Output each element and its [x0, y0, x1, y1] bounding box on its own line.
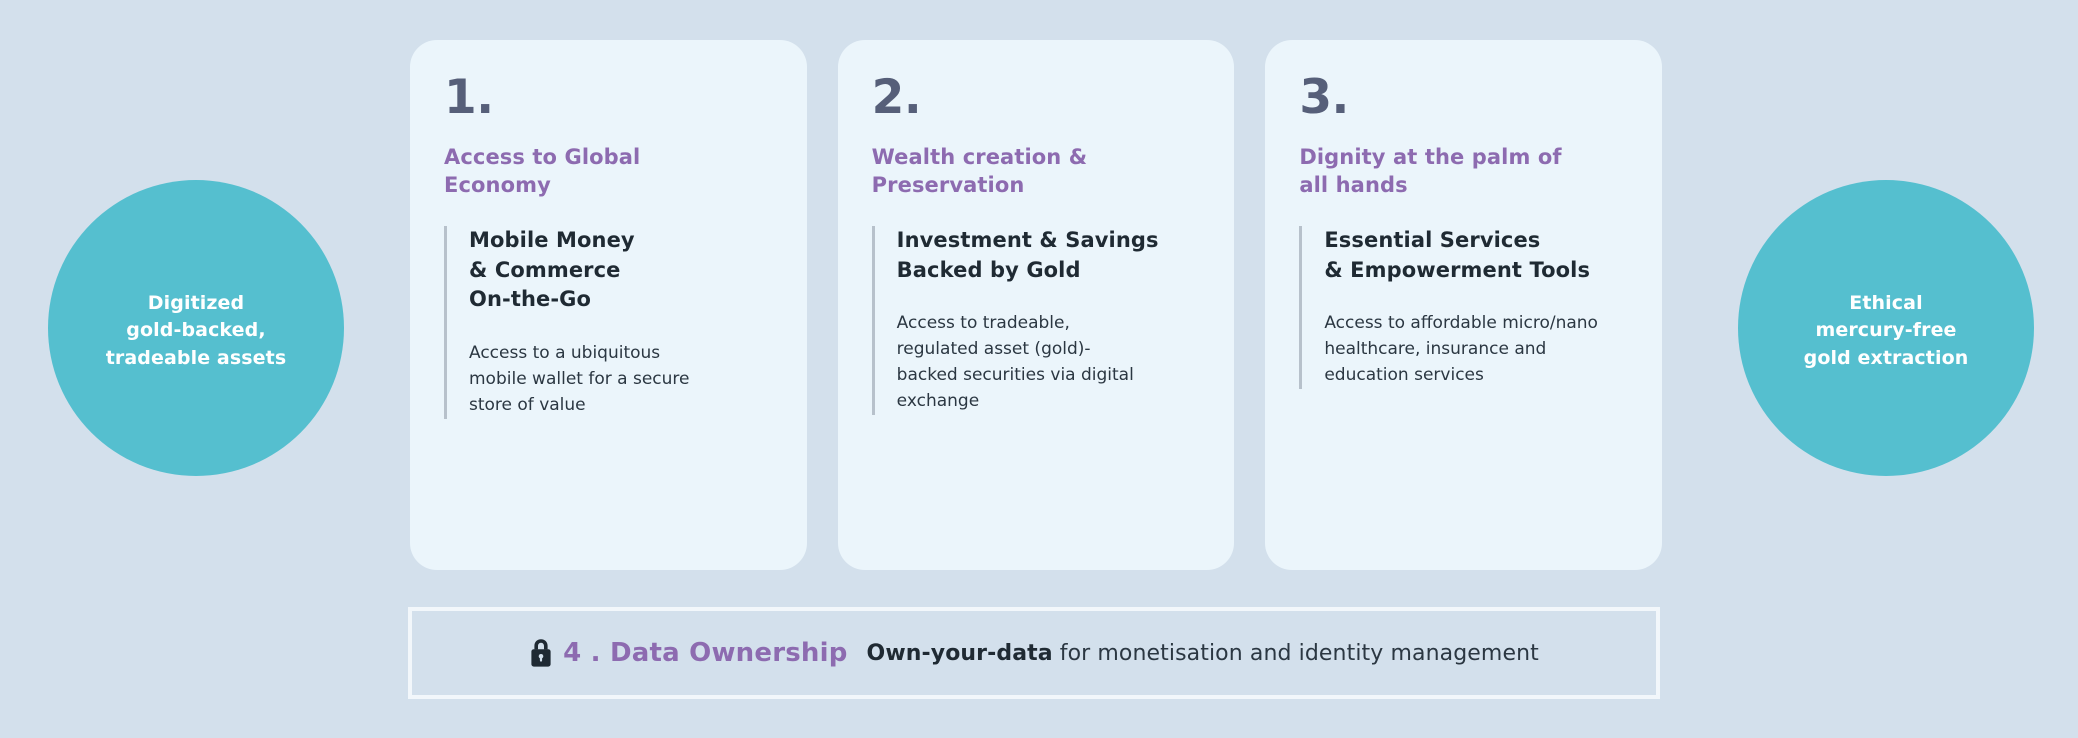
card-3-title: Dignity at the palm of all hands: [1299, 143, 1628, 200]
card-1-number: 1.: [444, 74, 773, 121]
banner-content: 4 . Data Ownership Own-your-data for mon…: [529, 638, 1539, 668]
pillar-cards-row: 1. Access to Global Economy Mobile Money…: [410, 40, 1662, 570]
data-ownership-banner[interactable]: 4 . Data Ownership Own-your-data for mon…: [408, 607, 1660, 699]
pillar-card-2[interactable]: 2. Wealth creation & Preservation Invest…: [838, 40, 1235, 570]
banner-rest-text: for monetisation and identity management: [1060, 641, 1539, 666]
left-circle-label: Digitized gold-backed, tradeable assets: [106, 290, 287, 373]
lock-icon: [529, 638, 553, 668]
card-1-body: Mobile Money & Commerce On-the-Go Access…: [444, 226, 773, 419]
card-2-body: Investment & Savings Backed by Gold Acce…: [872, 226, 1201, 415]
card-2-title: Wealth creation & Preservation: [872, 143, 1201, 200]
card-2-description: Access to tradeable, regulated asset (go…: [897, 311, 1201, 414]
right-circle-label: Ethical mercury-free gold extraction: [1804, 290, 1969, 373]
diagram-canvas: Digitized gold-backed, tradeable assets …: [0, 0, 2078, 738]
card-1-title: Access to Global Economy: [444, 143, 773, 200]
card-1-description: Access to a ubiquitous mobile wallet for…: [469, 341, 773, 418]
card-3-subtitle: Essential Services & Empowerment Tools: [1324, 226, 1628, 286]
pillar-card-3[interactable]: 3. Dignity at the palm of all hands Esse…: [1265, 40, 1662, 570]
card-1-subtitle: Mobile Money & Commerce On-the-Go: [469, 226, 773, 315]
right-circle-badge: Ethical mercury-free gold extraction: [1738, 180, 2034, 476]
card-3-number: 3.: [1299, 74, 1628, 121]
left-circle-badge: Digitized gold-backed, tradeable assets: [48, 180, 344, 476]
card-3-description: Access to affordable micro/nano healthca…: [1324, 311, 1628, 388]
pillar-card-1[interactable]: 1. Access to Global Economy Mobile Money…: [410, 40, 807, 570]
banner-bold-text: Own-your-data: [867, 641, 1053, 666]
banner-step-label: 4 . Data Ownership: [563, 638, 847, 668]
card-3-body: Essential Services & Empowerment Tools A…: [1299, 226, 1628, 389]
card-2-number: 2.: [872, 74, 1201, 121]
card-2-subtitle: Investment & Savings Backed by Gold: [897, 226, 1201, 286]
